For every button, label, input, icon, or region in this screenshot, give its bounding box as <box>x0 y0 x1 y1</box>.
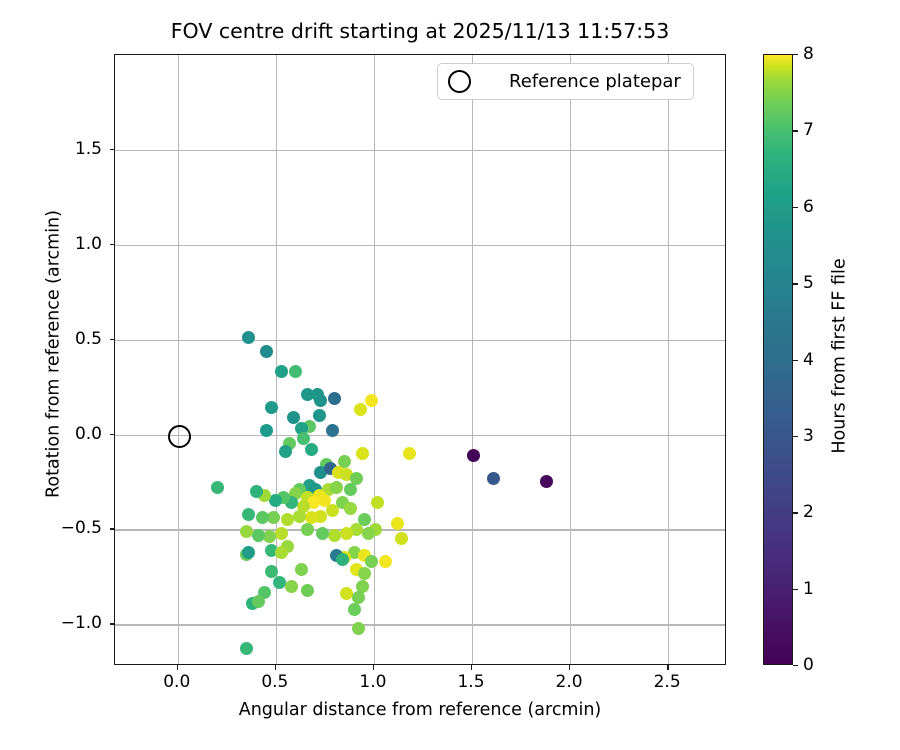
scatter-point <box>362 527 375 540</box>
figure-container: FOV centre drift starting at 2025/11/13 … <box>0 0 900 750</box>
y-tick-3 <box>110 339 115 340</box>
scatter-point <box>269 494 282 507</box>
scatter-point <box>252 595 265 608</box>
scatter-point <box>275 527 288 540</box>
x-tick-2 <box>373 665 374 670</box>
colorbar-tick-1 <box>793 589 798 590</box>
scatter-point <box>354 403 367 416</box>
scatter-point <box>330 481 343 494</box>
y-tick-0 <box>110 623 115 624</box>
scatter-point <box>250 485 263 498</box>
scatter-point <box>252 529 265 542</box>
scatter-point <box>540 475 553 488</box>
x-tick-4 <box>569 665 570 670</box>
legend: Reference platepar <box>437 63 694 100</box>
colorbar-gradient <box>763 54 793 665</box>
scatter-point <box>403 447 416 460</box>
x-tick-1 <box>275 665 276 670</box>
x-tick-label-3: 1.5 <box>457 672 484 692</box>
scatter-point <box>211 481 224 494</box>
scatter-point <box>487 472 500 485</box>
colorbar-tick-label-7: 7 <box>803 120 814 140</box>
scatter-point <box>358 567 371 580</box>
scatter-point <box>336 553 349 566</box>
colorbar: 012345678 <box>763 54 793 665</box>
y-axis-label: Rotation from reference (arcmin) <box>44 49 64 660</box>
x-tick-label-4: 2.0 <box>556 672 583 692</box>
scatter-point <box>260 424 273 437</box>
x-tick-label-2: 1.0 <box>359 672 386 692</box>
scatter-point <box>314 394 327 407</box>
scatter-point <box>263 530 276 543</box>
scatter-point <box>340 527 353 540</box>
scatter-point <box>301 584 314 597</box>
y-tick-2 <box>110 434 115 435</box>
colorbar-tick-label-6: 6 <box>803 197 814 217</box>
colorbar-tick-7 <box>793 130 798 131</box>
x-tick-label-5: 2.5 <box>654 672 681 692</box>
scatter-point <box>267 511 280 524</box>
scatter-point <box>260 345 273 358</box>
colorbar-tick-8 <box>793 54 798 55</box>
y-tick-label-2: 0.0 <box>75 424 102 444</box>
page-title: FOV centre drift starting at 2025/11/13 … <box>114 20 726 44</box>
scatter-point <box>391 517 404 530</box>
scatter-point <box>365 555 378 568</box>
scatter-point <box>279 445 292 458</box>
scatter-point <box>275 546 288 559</box>
scatter-point <box>293 510 306 523</box>
scatter-point <box>371 496 384 509</box>
scatter-point <box>295 563 308 576</box>
scatter-point <box>242 508 255 521</box>
scatter-point <box>316 527 329 540</box>
scatter-point <box>240 525 253 538</box>
y-tick-label-5: 1.5 <box>75 139 102 159</box>
scatter-point <box>240 642 253 655</box>
scatter-point <box>265 401 278 414</box>
colorbar-tick-label-8: 8 <box>803 44 814 64</box>
colorbar-tick-4 <box>793 360 798 361</box>
scatter-point <box>344 483 357 496</box>
scatter-point <box>379 555 392 568</box>
y-tick-label-3: 0.5 <box>75 329 102 349</box>
legend-label: Reference platepar <box>481 71 681 92</box>
scatter-point <box>281 513 294 526</box>
reference-platepar-point <box>168 425 191 448</box>
colorbar-tick-label-3: 3 <box>803 426 814 446</box>
scatter-points-layer <box>115 55 725 664</box>
y-tick-label-1: −0.5 <box>61 518 102 538</box>
colorbar-tick-3 <box>793 436 798 437</box>
scatter-point <box>356 447 369 460</box>
scatter-point <box>285 580 298 593</box>
scatter-point <box>326 504 339 517</box>
x-tick-label-1: 0.5 <box>261 672 288 692</box>
plot-axes <box>114 54 726 665</box>
scatter-point <box>352 622 365 635</box>
colorbar-tick-6 <box>793 207 798 208</box>
colorbar-tick-label-1: 1 <box>803 579 814 599</box>
y-tick-1 <box>110 528 115 529</box>
colorbar-tick-label-4: 4 <box>803 350 814 370</box>
x-tick-3 <box>471 665 472 670</box>
scatter-point <box>365 394 378 407</box>
y-tick-5 <box>110 149 115 150</box>
colorbar-tick-label-5: 5 <box>803 273 814 293</box>
x-tick-5 <box>667 665 668 670</box>
scatter-point <box>395 532 408 545</box>
x-tick-0 <box>177 665 178 670</box>
scatter-point <box>326 424 339 437</box>
scatter-point <box>256 511 269 524</box>
x-axis-label: Angular distance from reference (arcmin) <box>114 700 726 720</box>
scatter-point <box>467 449 480 462</box>
y-tick-label-4: 1.0 <box>75 234 102 254</box>
colorbar-tick-2 <box>793 512 798 513</box>
y-tick-4 <box>110 244 115 245</box>
scatter-point <box>328 529 341 542</box>
scatter-point <box>313 409 326 422</box>
scatter-point <box>301 523 314 536</box>
scatter-point <box>340 587 353 600</box>
colorbar-tick-0 <box>793 665 798 666</box>
scatter-point <box>242 331 255 344</box>
reference-platepar-marker-icon <box>448 70 471 93</box>
scatter-point <box>289 365 302 378</box>
scatter-point <box>328 392 341 405</box>
x-tick-label-0: 0.0 <box>163 672 190 692</box>
scatter-point <box>344 502 357 515</box>
colorbar-label: Hours from first FF file <box>830 51 850 662</box>
colorbar-tick-5 <box>793 283 798 284</box>
scatter-point <box>305 443 318 456</box>
y-tick-label-0: −1.0 <box>61 613 102 633</box>
scatter-point <box>348 603 361 616</box>
scatter-point <box>242 546 255 559</box>
scatter-point <box>275 365 288 378</box>
colorbar-tick-label-0: 0 <box>803 655 814 675</box>
colorbar-tick-label-2: 2 <box>803 502 814 522</box>
